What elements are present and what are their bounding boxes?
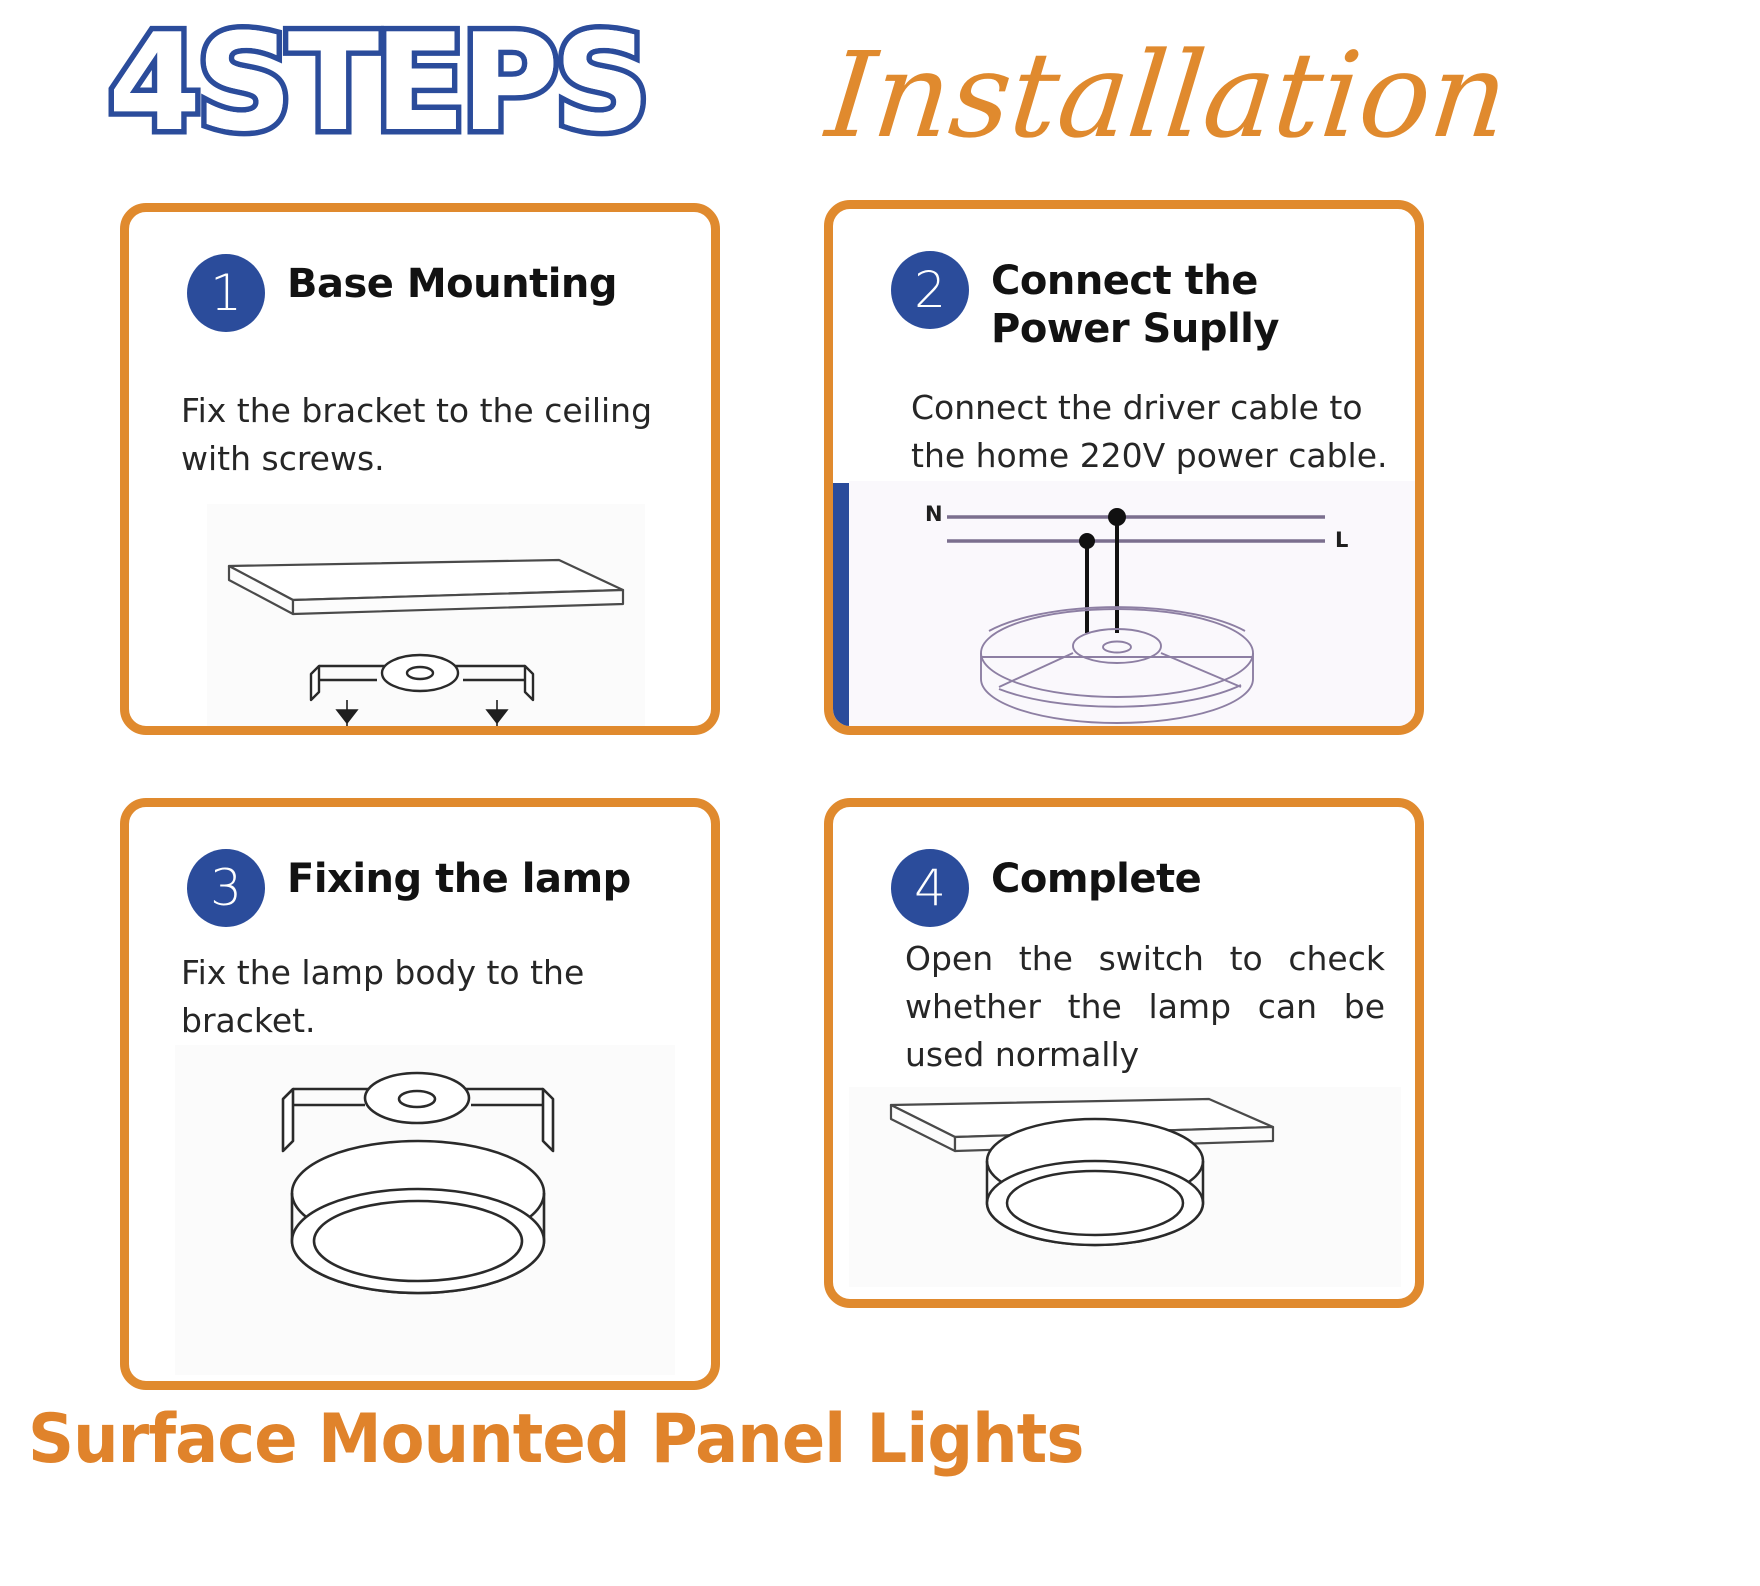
step-number-badge-3: 3 xyxy=(187,849,265,927)
step-card-3: 3 Fixing the lamp Fix the lamp body to t… xyxy=(120,798,720,1390)
wiring-diagram: N L xyxy=(849,481,1415,731)
wiring-label-l: L xyxy=(1335,528,1348,552)
step-3-header: 3 Fixing the lamp xyxy=(187,849,699,927)
step-4-header: 4 Complete xyxy=(891,849,1403,927)
step-body-3: Fix the lamp body to the bracket. xyxy=(181,949,683,1045)
step-heading-1: Base Mounting xyxy=(287,254,617,308)
step-2-header: 2 Connect the Power Suplly xyxy=(891,251,1403,353)
step-heading-2: Connect the Power Suplly xyxy=(991,251,1321,353)
step-body-4: Open the switch to check whether the lam… xyxy=(905,935,1385,1079)
mounted-lamp-complete-diagram xyxy=(849,1087,1401,1287)
wiring-label-n: N xyxy=(925,502,943,526)
title-4steps: 4STEPS xyxy=(108,16,645,150)
step-number-badge-4: 4 xyxy=(891,849,969,927)
panel-and-bracket-with-screws-diagram xyxy=(207,504,645,734)
step-1-header: 1 Base Mounting xyxy=(187,254,699,332)
step-card-4: 4 Complete Open the switch to check whet… xyxy=(824,798,1424,1308)
step-heading-3: Fixing the lamp xyxy=(287,849,631,903)
step-number-badge-2: 2 xyxy=(891,251,969,329)
footer-product-title: Surface Mounted Panel Lights xyxy=(28,1400,1083,1479)
step-card-2: 2 Connect the Power Suplly Connect the d… xyxy=(824,200,1424,735)
step-number-badge-1: 1 xyxy=(187,254,265,332)
step-heading-4: Complete xyxy=(991,849,1201,903)
bracket-over-round-lamp-diagram xyxy=(175,1045,675,1375)
step-body-2: Connect the driver cable to the home 220… xyxy=(911,384,1395,480)
step-body-1: Fix the bracket to the ceiling with scre… xyxy=(181,387,683,483)
steps-grid: 1 Base Mounting Fix the bracket to the c… xyxy=(0,200,1760,1390)
title-installation: Installation xyxy=(820,22,1514,170)
page-header: 4STEPS 4STEPS Installation xyxy=(0,0,1760,192)
step-card-1: 1 Base Mounting Fix the bracket to the c… xyxy=(120,203,720,735)
